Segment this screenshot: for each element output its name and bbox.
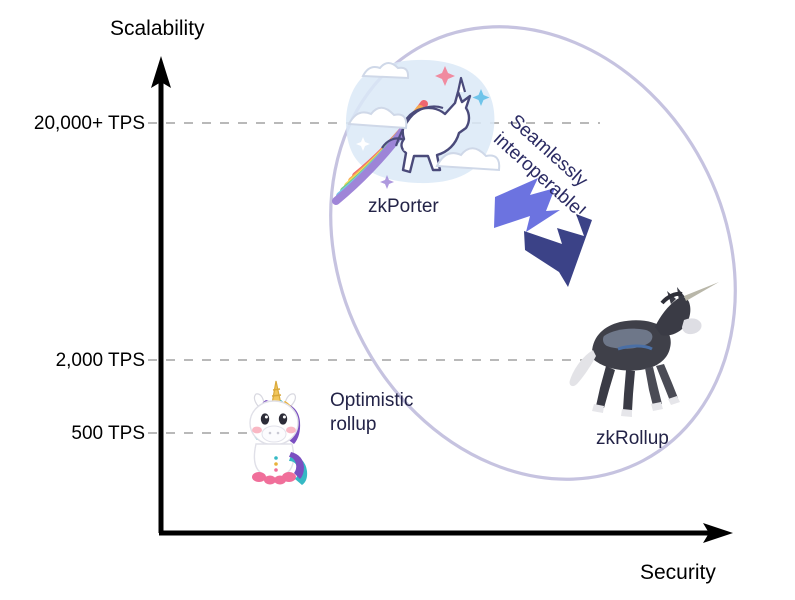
diagram-canvas: Scalability Security 20,000+ TPS 2,000 T… (0, 0, 795, 600)
y-tick-label-20000-tps: 20,000+ TPS (0, 113, 145, 135)
x-axis-title: Security (640, 561, 716, 585)
y-axis-title: Scalability (110, 17, 205, 41)
node-label-zkporter: zkPorter (368, 196, 439, 218)
y-tick-label-2000-tps: 2,000 TPS (0, 350, 145, 372)
y-tick-label-500-tps: 500 TPS (0, 423, 145, 445)
node-label-zkrollup: zkRollup (596, 428, 669, 450)
axes-and-gridlines (0, 0, 795, 600)
node-label-optimistic-rollup: Optimistic rollup (330, 389, 440, 437)
